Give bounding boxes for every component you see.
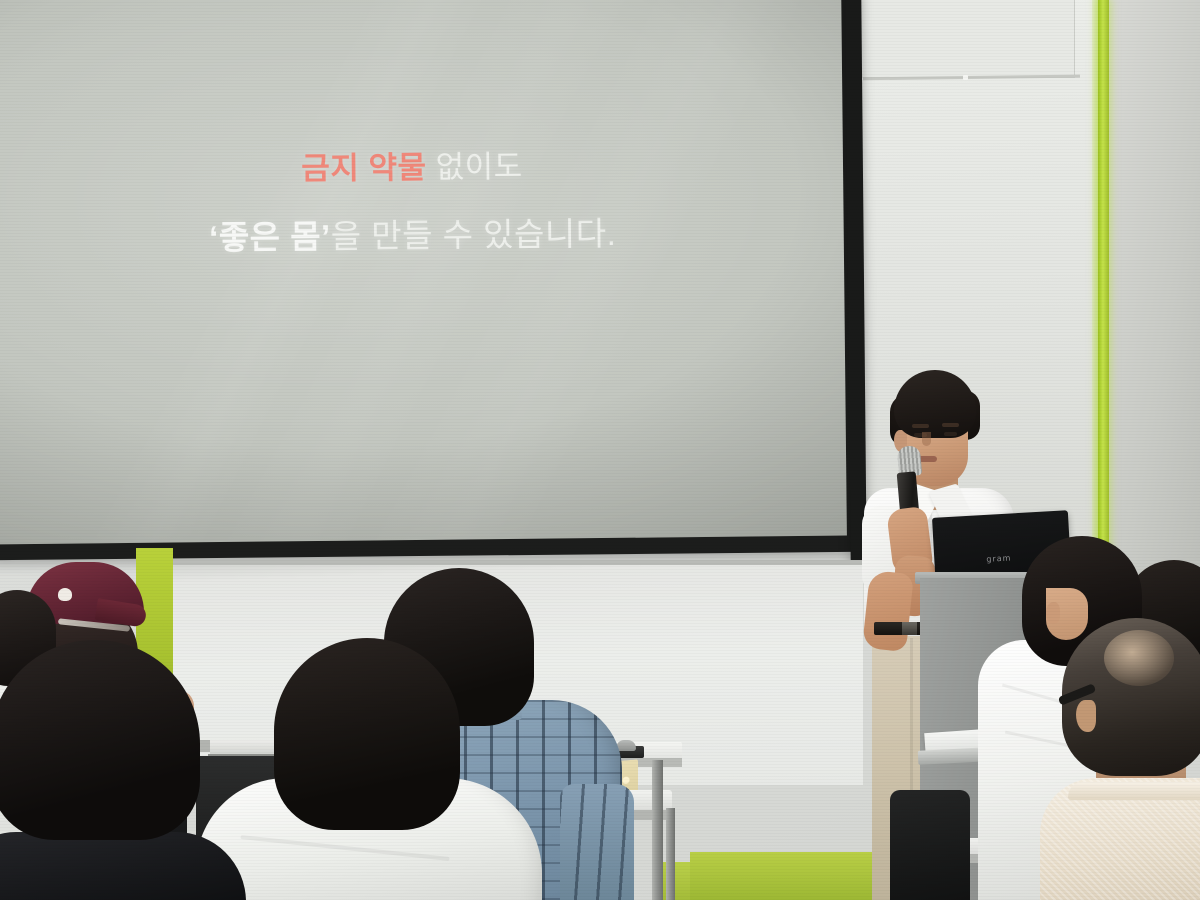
attendee-glasses-scalp — [1104, 630, 1174, 686]
presenter-nose — [922, 432, 931, 446]
presenter-eyebrow-right — [942, 423, 959, 427]
slide-highlight-text: 금지 약물 — [301, 150, 427, 186]
attendee-front-left-head — [0, 640, 200, 840]
attendee-front-left-body — [0, 832, 246, 900]
attendee-glasses-collar — [1068, 782, 1200, 800]
presenter-hair — [894, 370, 976, 438]
slide-line-1-rest: 없이도 — [426, 149, 523, 185]
cap-logo-icon — [58, 588, 72, 601]
slide-content: 금지 약물 없이도 ‘좋은 몸’을 만들 수 있습니다. — [0, 147, 844, 256]
whiteboard-top-edge — [173, 560, 863, 565]
attendee-right-white-ear — [1046, 602, 1060, 624]
slide-emphasis-text: ‘좋은 몸’ — [209, 218, 331, 256]
attendee-checked-sleeve — [560, 784, 634, 900]
presenter-belt-buckle — [902, 622, 917, 635]
wall-right-panel — [1100, 0, 1200, 620]
laptop-brand-label: gram — [986, 553, 1012, 563]
desk-leg — [652, 760, 663, 900]
screen-vignette — [0, 0, 847, 544]
wall-fixing-dot — [963, 75, 968, 80]
presenter-forearm — [862, 570, 914, 652]
desk-leg — [666, 808, 675, 900]
chair-back-right — [890, 790, 970, 900]
photo-scene: 금지 약물 없이도 ‘좋은 몸’을 만들 수 있습니다. — [0, 0, 1200, 900]
presenter-eyebrow-left — [912, 424, 929, 428]
slide-line-2-rest: 을 만들 수 있습니다. — [331, 215, 617, 255]
attendee-glasses-ear — [1076, 700, 1096, 732]
wall-whiteboard-upper — [855, 0, 1075, 78]
attendee-white-shirt-head — [274, 638, 460, 830]
projector-screen: 금지 약물 없이도 ‘좋은 몸’을 만들 수 있습니다. — [0, 0, 847, 544]
presenter-eye-right — [944, 432, 957, 436]
